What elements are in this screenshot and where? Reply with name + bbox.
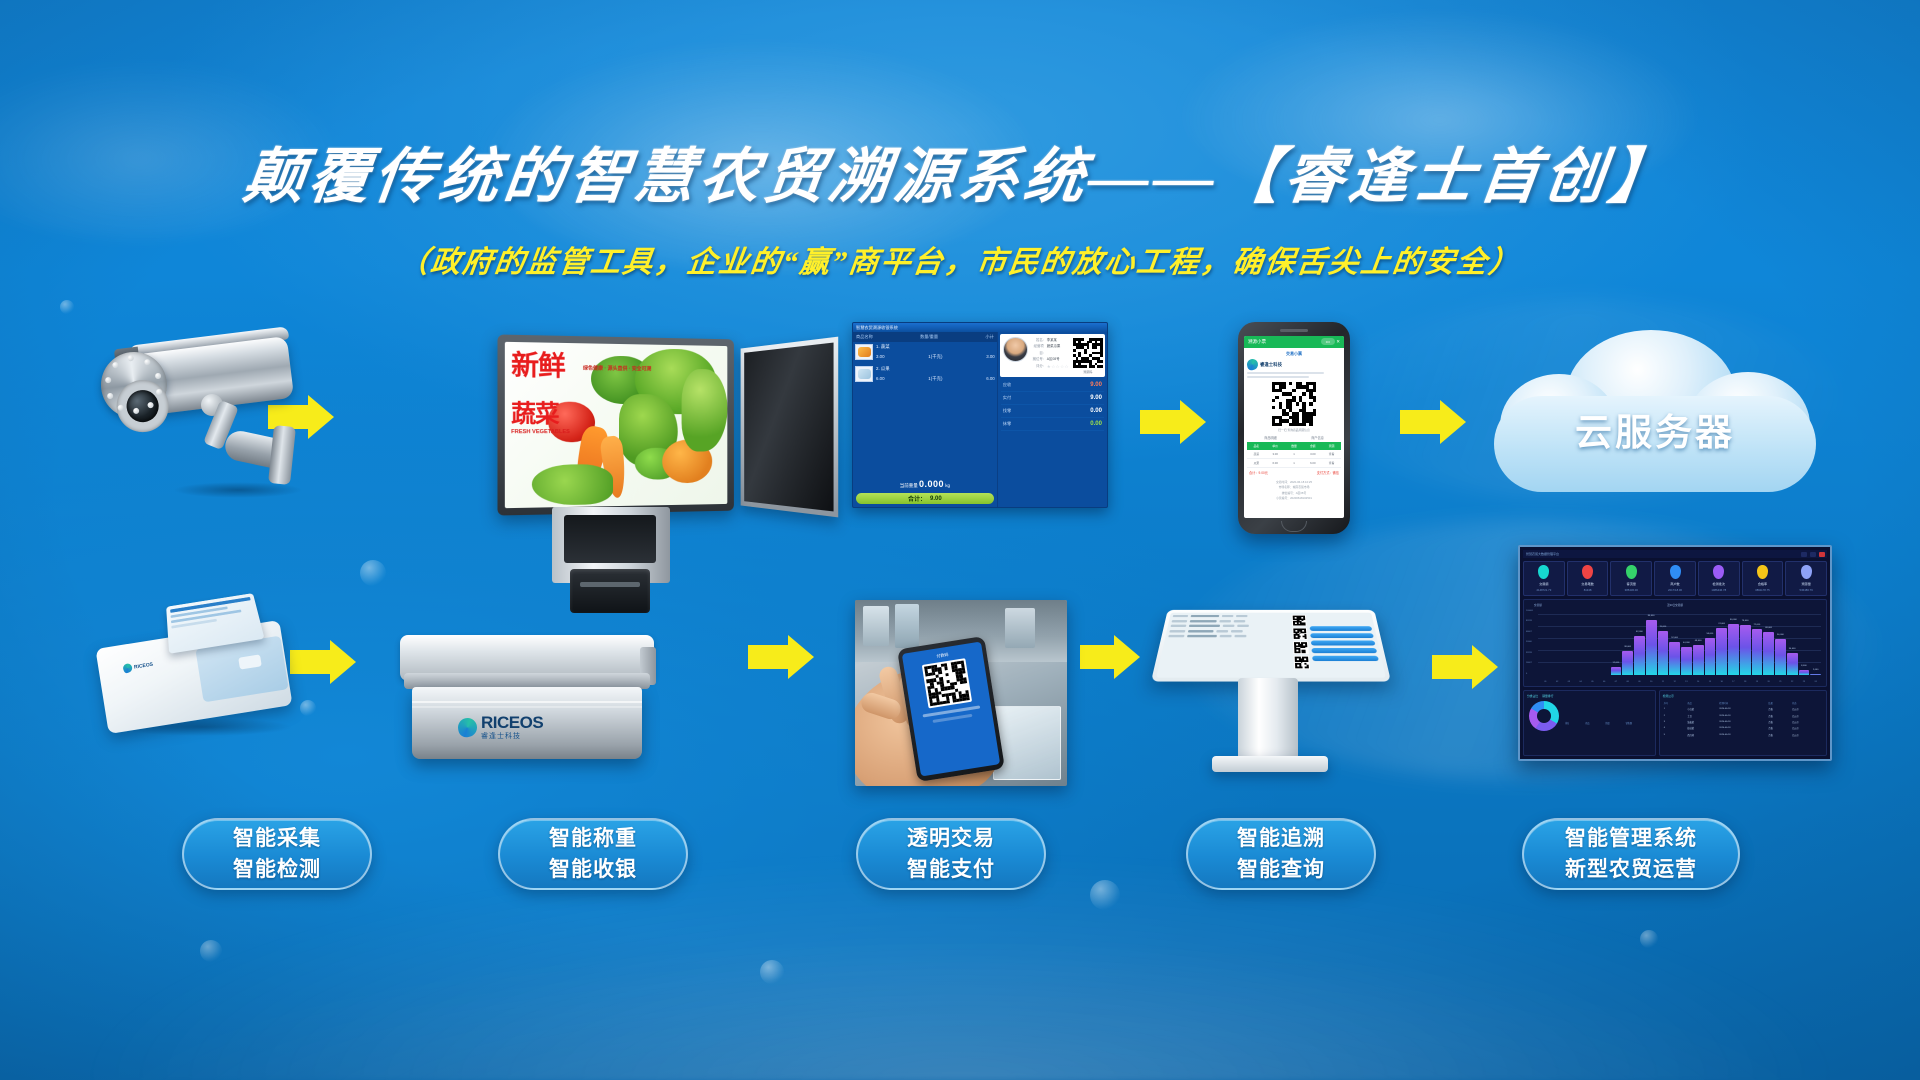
weight-unit: kg xyxy=(945,483,950,488)
receipt-page-title: 交易小票 xyxy=(1247,351,1341,357)
chart-bar-value: 38,000 xyxy=(1624,646,1631,648)
chart-xtick: 02 xyxy=(1552,681,1563,683)
chart-bar-value: 74,000 xyxy=(1718,623,1725,625)
pos-customer-display xyxy=(741,337,839,518)
mobile-payment-scene[interactable]: 付款码 xyxy=(855,600,1067,786)
kiosk-row[interactable] xyxy=(1169,630,1289,632)
cart-row-text: 2. 瓜果 6.00 1(千克) 6.00 xyxy=(876,366,995,382)
cell-trace-link[interactable]: 查看 xyxy=(1322,450,1341,459)
chart-ylabel: 交易额 xyxy=(1534,603,1542,607)
chart-xtick: 09 xyxy=(1634,681,1645,683)
scale-trim-line xyxy=(412,701,642,703)
vendor-field-key: 经营项目: xyxy=(1031,343,1044,356)
vendor-qr-block: 溯源码 xyxy=(1072,337,1104,374)
chart-bar: 58,000 xyxy=(1705,638,1716,675)
th-trace: 溯源 xyxy=(1322,442,1341,450)
kiosk-row[interactable] xyxy=(1168,635,1290,637)
query-kiosk[interactable] xyxy=(1160,600,1390,780)
kpi-card[interactable]: 交易额 2148721.73 xyxy=(1523,561,1565,596)
vendor-qr-code-icon xyxy=(1072,337,1104,369)
software-cart-panel: 商品名称 数量/重量 小计 1. 蔬菜 xyxy=(853,332,998,507)
cell: 3.00 xyxy=(1303,450,1322,459)
chart-ytick: 0 xyxy=(1526,673,1533,675)
kiosk-qr-column xyxy=(1292,615,1311,675)
chart-legend: 近30日交易额 xyxy=(1667,603,1683,607)
arrow-head xyxy=(1180,400,1206,444)
chart-xtick: 04 xyxy=(1575,681,1586,683)
chart-xtick: 15 xyxy=(1705,681,1716,683)
brand-name-cn: 睿逢士科技 xyxy=(481,731,543,741)
payment-hint-line xyxy=(932,714,972,723)
kpi-label: 交易笔数 xyxy=(1569,581,1607,586)
receipt-total-left: 合计：9.00元 xyxy=(1249,470,1268,475)
ir-led xyxy=(107,393,114,400)
chart-bar-value: 52,000 xyxy=(1671,637,1678,639)
kpi-label: 商户数 xyxy=(1656,581,1694,586)
printer-paper-slot xyxy=(580,582,640,587)
veg-thumb-icon xyxy=(858,369,871,379)
payment-screen-title: 付款码 xyxy=(936,652,949,660)
cart-item-thumb xyxy=(855,366,873,382)
payment-label: 找零 xyxy=(1003,408,1011,414)
kiosk-button[interactable] xyxy=(1310,626,1373,631)
phone-earpiece xyxy=(1280,329,1308,332)
kiosk-cell xyxy=(1191,615,1220,617)
kpi-card[interactable]: 客流量 385436.00 xyxy=(1610,561,1652,596)
qr-mosaic xyxy=(1293,629,1306,639)
scale-weight-readout: 当前重量 0.000 kg xyxy=(853,477,997,491)
arrow-head xyxy=(1472,645,1498,689)
chart-bar: 62,000 xyxy=(1634,636,1645,675)
arrow-shaft xyxy=(1140,410,1182,434)
table-row: 5 西红柿 2020-06-18 合格 已公示 xyxy=(1663,732,1823,738)
minimize-icon[interactable] xyxy=(1801,552,1807,557)
capsule-label-management[interactable]: 智能管理系统 新型农贸运营 xyxy=(1522,818,1740,890)
kpi-value: 2017/18.00 xyxy=(1656,588,1694,592)
chart-ytick: 83333 xyxy=(1526,620,1533,622)
dashboard-window[interactable]: 智慧农贸大数据管理平台 交易额 2148721.73 交易笔数 81348 客流… xyxy=(1518,545,1832,761)
cell: 1 xyxy=(1285,459,1304,468)
payment-summary: 应收 9.00 实付 9.00 找零 0.00 抹零 0.00 xyxy=(998,379,1107,507)
kpi-value: 1086446.78 xyxy=(1700,588,1738,592)
cloud-server[interactable]: 云服务器 xyxy=(1490,330,1820,510)
kpi-card[interactable]: 交易笔数 81348 xyxy=(1567,561,1609,596)
chart-xtick: 12 xyxy=(1669,681,1680,683)
brand-drop-icon xyxy=(456,716,479,739)
chart-bar: 80,000 xyxy=(1728,624,1739,675)
chart-bar: 34,000 xyxy=(1787,653,1798,675)
chart-bar: 70,000 xyxy=(1658,631,1669,675)
capsule-line-2: 智能查询 xyxy=(1237,854,1325,886)
receipt-header-title: 溯源小票 xyxy=(1248,339,1266,345)
payment-label: 应收 xyxy=(1003,382,1011,388)
cart-item-price: 3.00 xyxy=(876,354,885,360)
kpi-pin-icon xyxy=(1626,565,1637,579)
kiosk-qr-code-icon[interactable] xyxy=(1294,656,1310,669)
kiosk-cell xyxy=(1223,625,1235,627)
arrow-shaft xyxy=(1400,410,1442,434)
dashboard-kpi-row: 交易额 2148721.73 交易笔数 81348 客流量 385436.00 … xyxy=(1523,561,1827,596)
kiosk-cell xyxy=(1173,615,1189,617)
veg-thumb-icon xyxy=(858,347,871,357)
chart-xtick: 23 xyxy=(1799,681,1810,683)
capsule-line-2: 智能检测 xyxy=(233,854,321,886)
kiosk-cell xyxy=(1172,620,1188,622)
meta-line xyxy=(1247,376,1309,378)
tab-item-detail[interactable]: 商品明细 xyxy=(1264,435,1277,440)
kiosk-cell xyxy=(1220,635,1232,637)
kpi-value: 385436.00 xyxy=(1612,588,1650,592)
pos-receipt-printer[interactable] xyxy=(570,569,650,613)
food-safety-detector[interactable]: RICEOS xyxy=(95,590,315,750)
arrow-head xyxy=(330,640,356,684)
cell: 1 xyxy=(1285,450,1304,459)
capsule-line-2: 智能收银 xyxy=(549,854,637,886)
cell: 3.00 xyxy=(1266,450,1285,459)
qr-mosaic xyxy=(1294,642,1308,653)
kpi-label: 溯源量 xyxy=(1787,581,1825,586)
chart-bar: 86,000 xyxy=(1646,620,1657,675)
cart-item-index: 2 xyxy=(876,366,878,371)
inspection-table: 序号 商品 检测时间 结果 状态 1 小白菜 2020-06-18 合格 已公示 xyxy=(1663,700,1823,738)
kpi-card[interactable]: 检测批次 1086446.78 xyxy=(1698,561,1740,596)
table-row: 瓜果 6.00 1 6.00 查看 xyxy=(1247,459,1341,468)
cell: 已公示 xyxy=(1791,732,1823,738)
chart-xtick: 24 xyxy=(1810,681,1821,683)
pos-ad-headline-1: 新鲜 xyxy=(511,352,579,380)
cell: 合格 xyxy=(1767,732,1791,738)
chart-bar-value: 62,000 xyxy=(1636,631,1643,633)
capsule-label-transaction[interactable]: 透明交易 智能支付 xyxy=(856,818,1046,890)
chart-xtick: 10 xyxy=(1646,681,1657,683)
cell-trace-link[interactable]: 查看 xyxy=(1322,459,1341,468)
qr-mosaic xyxy=(924,660,970,706)
arrow-head xyxy=(788,635,814,679)
arrow-scale-to-payment xyxy=(748,635,818,679)
kiosk-button[interactable] xyxy=(1310,633,1374,638)
capsule-label-weighing[interactable]: 智能称重 智能收银 xyxy=(498,818,688,890)
tab-vendor-info[interactable]: 商户信息 xyxy=(1311,435,1324,440)
th: 排名 xyxy=(1564,694,1584,752)
maximize-icon[interactable] xyxy=(1810,552,1816,557)
kiosk-action-buttons[interactable] xyxy=(1309,615,1382,675)
cart-item-name: 1. 蔬菜 xyxy=(876,344,995,350)
chart-bar: 68,000 xyxy=(1763,632,1774,675)
table-header-row: 品名 单价 数量 金额 溯源 xyxy=(1247,442,1341,450)
kiosk-touchscreen[interactable] xyxy=(1151,610,1391,682)
sales-tab-2[interactable]: 销量排行 xyxy=(1542,694,1553,698)
chart-xtick: 17 xyxy=(1728,681,1739,683)
cart-item-amount: 6.00 xyxy=(986,376,995,382)
pos-main-display[interactable]: 新鲜 蔬菜 FRESH VEGETABLES 绿色健康 · 源头直供 · 安全可… xyxy=(497,334,733,515)
kiosk-button[interactable] xyxy=(1311,641,1376,646)
close-icon[interactable]: ✕ xyxy=(1336,339,1340,344)
kpi-value: 2148721.73 xyxy=(1525,588,1563,592)
chart-bar-value: 56,000 xyxy=(1777,634,1784,636)
chart-xtick: 19 xyxy=(1752,681,1763,683)
arrow-head xyxy=(1440,400,1466,444)
dashboard-bottom-panels: 分类占比 销量排行 排名 商品 销量 销售额 检测公示 xyxy=(1523,690,1827,756)
vendor-qr-caption: 溯源码 xyxy=(1072,370,1104,374)
chart-bar-value: 48,000 xyxy=(1695,640,1702,642)
capsule-label-traceability[interactable]: 智能追溯 智能查询 xyxy=(1186,818,1376,890)
kiosk-qr-code-icon[interactable] xyxy=(1292,615,1307,626)
kiosk-screen-content xyxy=(1156,613,1386,678)
kpi-label: 客流量 xyxy=(1612,581,1650,586)
chart-bar: 38,000 xyxy=(1622,651,1633,675)
kiosk-cell xyxy=(1219,620,1231,622)
kiosk-right-panel xyxy=(1292,615,1382,675)
qr-mosaic xyxy=(1295,657,1309,669)
chart-bar: 74,000 xyxy=(1716,628,1727,675)
veg-greens-bottom xyxy=(532,464,613,506)
phone-screen[interactable]: 溯源小票 ••• ✕ 交易小票 睿逢士科技 扫一 xyxy=(1244,336,1344,518)
chart-bar: 44,000 xyxy=(1681,647,1692,675)
shelf-product xyxy=(863,606,889,646)
vendor-info: 姓名: 李某某 经营项目: 蔬菜瓜果 摊位号: A区08号 评分: xyxy=(1031,337,1069,374)
ir-led xyxy=(144,359,151,366)
th-amount: 金额 xyxy=(1303,442,1322,450)
cart-item-price: 6.00 xyxy=(876,376,885,382)
table-row: 蔬菜 3.00 1 3.00 查看 xyxy=(1247,450,1341,459)
close-icon[interactable] xyxy=(1819,552,1825,557)
qr-mosaic xyxy=(1073,338,1103,368)
receipt-qr-caption: 扫一扫 查询商品溯源信息 xyxy=(1247,428,1341,432)
kpi-pin-icon xyxy=(1538,565,1549,579)
kpi-pin-icon xyxy=(1757,565,1768,579)
receipt-meta-lines xyxy=(1247,372,1341,378)
payment-row: 抹零 0.00 xyxy=(1001,418,1104,431)
th: 销售额 xyxy=(1625,694,1652,752)
receipt-total-right: 支付方式：微信 xyxy=(1317,470,1339,475)
vendor-card: 姓名: 李某某 经营项目: 蔬菜瓜果 摊位号: A区08号 评分: xyxy=(1000,334,1105,377)
kiosk-qr-code-icon[interactable] xyxy=(1292,628,1307,640)
ip-camera[interactable] xyxy=(95,330,315,510)
kpi-card[interactable]: 溯源量 536486.76 xyxy=(1785,561,1827,596)
kiosk-result-table xyxy=(1160,615,1291,675)
vendor-field: 评分: ★☆☆☆☆ xyxy=(1031,363,1069,372)
chart-bar-value: 12,000 xyxy=(1613,662,1620,664)
capsule-line-2: 新型农贸运营 xyxy=(1565,854,1697,886)
kpi-pin-icon xyxy=(1713,565,1724,579)
arrow-shaft xyxy=(1080,645,1116,669)
home-button-icon[interactable] xyxy=(1281,521,1307,532)
chart-xtick: 03 xyxy=(1564,681,1575,683)
receipt-qr-code-icon[interactable] xyxy=(1271,381,1317,427)
cell: 蔬菜 xyxy=(1247,450,1266,459)
vendor-field-key: 评分: xyxy=(1031,363,1044,372)
vendor-field-value: 蔬菜瓜果 xyxy=(1047,343,1061,356)
receipt-total-row: 合计：9.00元 支付方式：微信 xyxy=(1247,468,1341,477)
chart-xtick: 13 xyxy=(1681,681,1692,683)
footer-line: 小票编号：20200618102501 xyxy=(1247,496,1341,501)
kiosk-row[interactable] xyxy=(1173,615,1289,617)
receipt-brand-name: 睿逢士科技 xyxy=(1260,362,1282,368)
payment-value: 0.00 xyxy=(1090,408,1102,414)
receipt-header-actions[interactable]: ••• ✕ xyxy=(1321,339,1340,345)
chart-bar: 8,000 xyxy=(1799,670,1810,675)
kpi-value: 3891178.75 xyxy=(1744,588,1782,592)
meta-line xyxy=(1247,372,1324,374)
cart-item-name: 2. 瓜果 xyxy=(876,366,995,372)
dashboard-inspection-panel: 检测公示 序号 商品 检测时间 结果 状态 1 小白菜 2020-06-18 合… xyxy=(1659,690,1827,756)
cell: 瓜果 xyxy=(1247,459,1266,468)
kiosk-cell xyxy=(1237,625,1249,627)
payment-value: 9.00 xyxy=(1090,382,1102,388)
sales-donut-block: 分类占比 销量排行 xyxy=(1527,694,1561,752)
cart-col-center: 数量/重量 xyxy=(920,334,938,340)
vendor-rating-stars: ★☆☆☆☆ xyxy=(1047,363,1069,372)
page-title: 颠覆传统的智慧农贸溯源系统——【睿逢士首创】 xyxy=(0,128,1920,215)
cart-rows: 1. 蔬菜 3.00 1(千克) 3.00 xyxy=(853,342,997,477)
payment-value: 0.00 xyxy=(1090,421,1102,427)
cart-total-bar[interactable]: 合计： 9.00 xyxy=(856,493,994,504)
chart-bar-value: 72,000 xyxy=(1754,624,1761,626)
total-label: 合计： xyxy=(908,494,926,503)
chart-ytick: 66667 xyxy=(1526,631,1533,633)
sales-tab-1[interactable]: 分类占比 xyxy=(1527,694,1538,698)
kpi-card[interactable]: 合格率 3891178.75 xyxy=(1742,561,1784,596)
title-block: 颠覆传统的智慧农贸溯源系统——【睿逢士首创】 （政府的监管工具，企业的“赢”商平… xyxy=(0,128,1920,281)
chart-xtick: 20 xyxy=(1763,681,1774,683)
payment-photo: 付款码 xyxy=(855,600,1067,786)
th: 销量 xyxy=(1604,694,1624,752)
sales-rank-table: 排名 商品 销量 销售额 xyxy=(1564,694,1652,752)
capsule-line-1: 智能追溯 xyxy=(1237,823,1325,855)
chart-xaxis: 0102030405060708091011121314151617181920… xyxy=(1540,681,1821,683)
pos-ad-sub: 绿色健康 · 源头直供 · 安全可溯 xyxy=(583,365,651,373)
payment-label: 抹零 xyxy=(1003,421,1011,427)
kiosk-row[interactable] xyxy=(1172,620,1290,622)
kiosk-cell xyxy=(1188,630,1214,632)
kpi-pin-icon xyxy=(1670,565,1681,579)
chart-bar-value: 70,000 xyxy=(1660,626,1667,628)
payment-phone-screen: 付款码 xyxy=(902,642,1000,777)
arrow-software-to-phone xyxy=(1140,400,1210,444)
software-body: 商品名称 数量/重量 小计 1. 蔬菜 xyxy=(853,332,1107,507)
receipt-table: 品名 单价 数量 金额 溯源 蔬菜 3.00 1 3.00 查看 瓜果 xyxy=(1247,442,1341,468)
cart-row[interactable]: 1. 蔬菜 3.00 1(千克) 3.00 xyxy=(855,344,995,360)
kiosk-qr-code-icon[interactable] xyxy=(1293,641,1309,654)
chart-bar-value: 80,000 xyxy=(1730,619,1737,621)
chart-xtick: 14 xyxy=(1693,681,1704,683)
chart-xtick: 16 xyxy=(1716,681,1727,683)
chart-ytick: 50000 xyxy=(1526,641,1533,643)
chart-ytick: 100000 xyxy=(1526,610,1533,612)
chart-bar: 48,000 xyxy=(1693,645,1704,675)
dashboard-title: 智慧农贸大数据管理平台 xyxy=(1523,552,1559,556)
chart-xtick: 06 xyxy=(1599,681,1610,683)
chart-ytick: 16667 xyxy=(1526,662,1533,664)
ir-led xyxy=(127,355,134,362)
kiosk-cell xyxy=(1169,630,1185,632)
chart-bar-value: 68,000 xyxy=(1765,627,1772,629)
kiosk-cell xyxy=(1236,615,1247,617)
counter-product-box xyxy=(993,706,1061,780)
pos-dual-screen[interactable]: 新鲜 蔬菜 FRESH VEGETABLES 绿色健康 · 源头直供 · 安全可… xyxy=(490,325,870,625)
cart-item-index: 1 xyxy=(876,344,878,349)
weight-label: 当前重量 xyxy=(900,483,918,488)
kpi-label: 检测批次 xyxy=(1700,581,1738,586)
capsule-line-2: 智能支付 xyxy=(907,854,995,886)
management-dashboard[interactable]: 智慧农贸大数据管理平台 交易额 2148721.73 交易笔数 81348 客流… xyxy=(1518,545,1832,761)
brand-drop-icon xyxy=(1246,358,1259,371)
chart-xtick: 21 xyxy=(1775,681,1786,683)
kiosk-foot xyxy=(1212,756,1328,772)
arrow-head xyxy=(1114,635,1140,679)
chart-bar: 52,000 xyxy=(1669,642,1680,675)
chart-bar: 78,000 xyxy=(1740,625,1751,675)
mobile-receipt-phone[interactable]: 溯源小票 ••• ✕ 交易小票 睿逢士科技 扫一 xyxy=(1238,322,1350,534)
cart-item-amount: 3.00 xyxy=(986,354,995,360)
cart-row[interactable]: 2. 瓜果 6.00 1(千克) 6.00 xyxy=(855,366,995,382)
kpi-value: 536486.76 xyxy=(1787,588,1825,592)
more-options-icon[interactable]: ••• xyxy=(1321,338,1335,345)
total-value: 9.00 xyxy=(930,496,942,502)
chart-xtick: 07 xyxy=(1611,681,1622,683)
receipt-brand: 睿逢士科技 xyxy=(1247,359,1341,370)
weight-value: 0.000 xyxy=(919,479,944,489)
kpi-card[interactable]: 商户数 2017/18.00 xyxy=(1654,561,1696,596)
shelf-product xyxy=(895,604,919,648)
kpi-pin-icon xyxy=(1801,565,1812,579)
capsule-line-1: 智能称重 xyxy=(549,823,637,855)
capsule-line-1: 透明交易 xyxy=(907,823,995,855)
chart-bar: 2,000 xyxy=(1810,674,1821,675)
vendor-field: 经营项目: 蔬菜瓜果 xyxy=(1031,343,1069,356)
kiosk-cell xyxy=(1234,635,1246,637)
cart-item-values: 3.00 1(千克) 3.00 xyxy=(876,354,995,360)
scale-trim-line xyxy=(412,706,642,708)
receipt-content: 交易小票 睿逢士科技 扫一扫 查询商品溯源信息 商品明细 商户信息 xyxy=(1244,348,1344,518)
cart-item-thumb xyxy=(855,344,873,360)
payment-row: 实付 9.00 xyxy=(1001,392,1104,405)
ir-led xyxy=(112,362,119,369)
pos-software-screen[interactable]: 智慧农贸溯源收银系统 商品名称 数量/重量 小计 1. xyxy=(852,322,1108,508)
kpi-label: 合格率 xyxy=(1744,581,1782,586)
cart-item-qty: 1(千克) xyxy=(928,354,942,360)
weighing-scale[interactable]: RICEOS 睿逢士科技 xyxy=(400,635,670,775)
cart-item-qty: 1(千克) xyxy=(928,376,942,382)
pos-software-window[interactable]: 智慧农贸溯源收银系统 商品名称 数量/重量 小计 1. xyxy=(852,322,1108,508)
kiosk-row[interactable] xyxy=(1171,625,1290,627)
camera-wall-bracket xyxy=(268,425,296,485)
arrow-payment-to-kiosk xyxy=(1080,635,1142,679)
chart-bar: 72,000 xyxy=(1752,629,1763,675)
table-header-row: 排名 商品 销量 销售额 xyxy=(1564,694,1652,752)
receipt-tabs[interactable]: 商品明细 商户信息 xyxy=(1247,435,1341,440)
kpi-label: 交易额 xyxy=(1525,581,1563,586)
kiosk-cell xyxy=(1216,630,1228,632)
th-qty: 数量 xyxy=(1285,442,1304,450)
payment-qr-code-icon xyxy=(922,658,972,708)
arrow-shaft xyxy=(748,645,790,669)
th: 商品 xyxy=(1584,694,1604,752)
chart-ytick: 33333 xyxy=(1526,652,1533,654)
kiosk-cell xyxy=(1234,620,1246,622)
pos-ad-headline-2: 蔬菜 xyxy=(511,402,579,427)
capsule-label-collection[interactable]: 智能采集 智能检测 xyxy=(182,818,372,890)
dashboard-sales-panel: 分类占比 销量排行 排名 商品 销量 销售额 xyxy=(1523,690,1656,756)
chart-xtick: 01 xyxy=(1540,681,1551,683)
kiosk-cell xyxy=(1168,635,1184,637)
arrow-phone-to-cloud xyxy=(1400,400,1470,444)
chart-bar-value: 58,000 xyxy=(1707,633,1714,635)
kiosk-button[interactable] xyxy=(1312,656,1379,661)
software-vendor-panel: 姓名: 李某某 经营项目: 蔬菜瓜果 摊位号: A区08号 评分: xyxy=(998,332,1107,507)
chart-bar-value: 8,000 xyxy=(1801,665,1806,667)
kiosk-button[interactable] xyxy=(1311,648,1377,653)
